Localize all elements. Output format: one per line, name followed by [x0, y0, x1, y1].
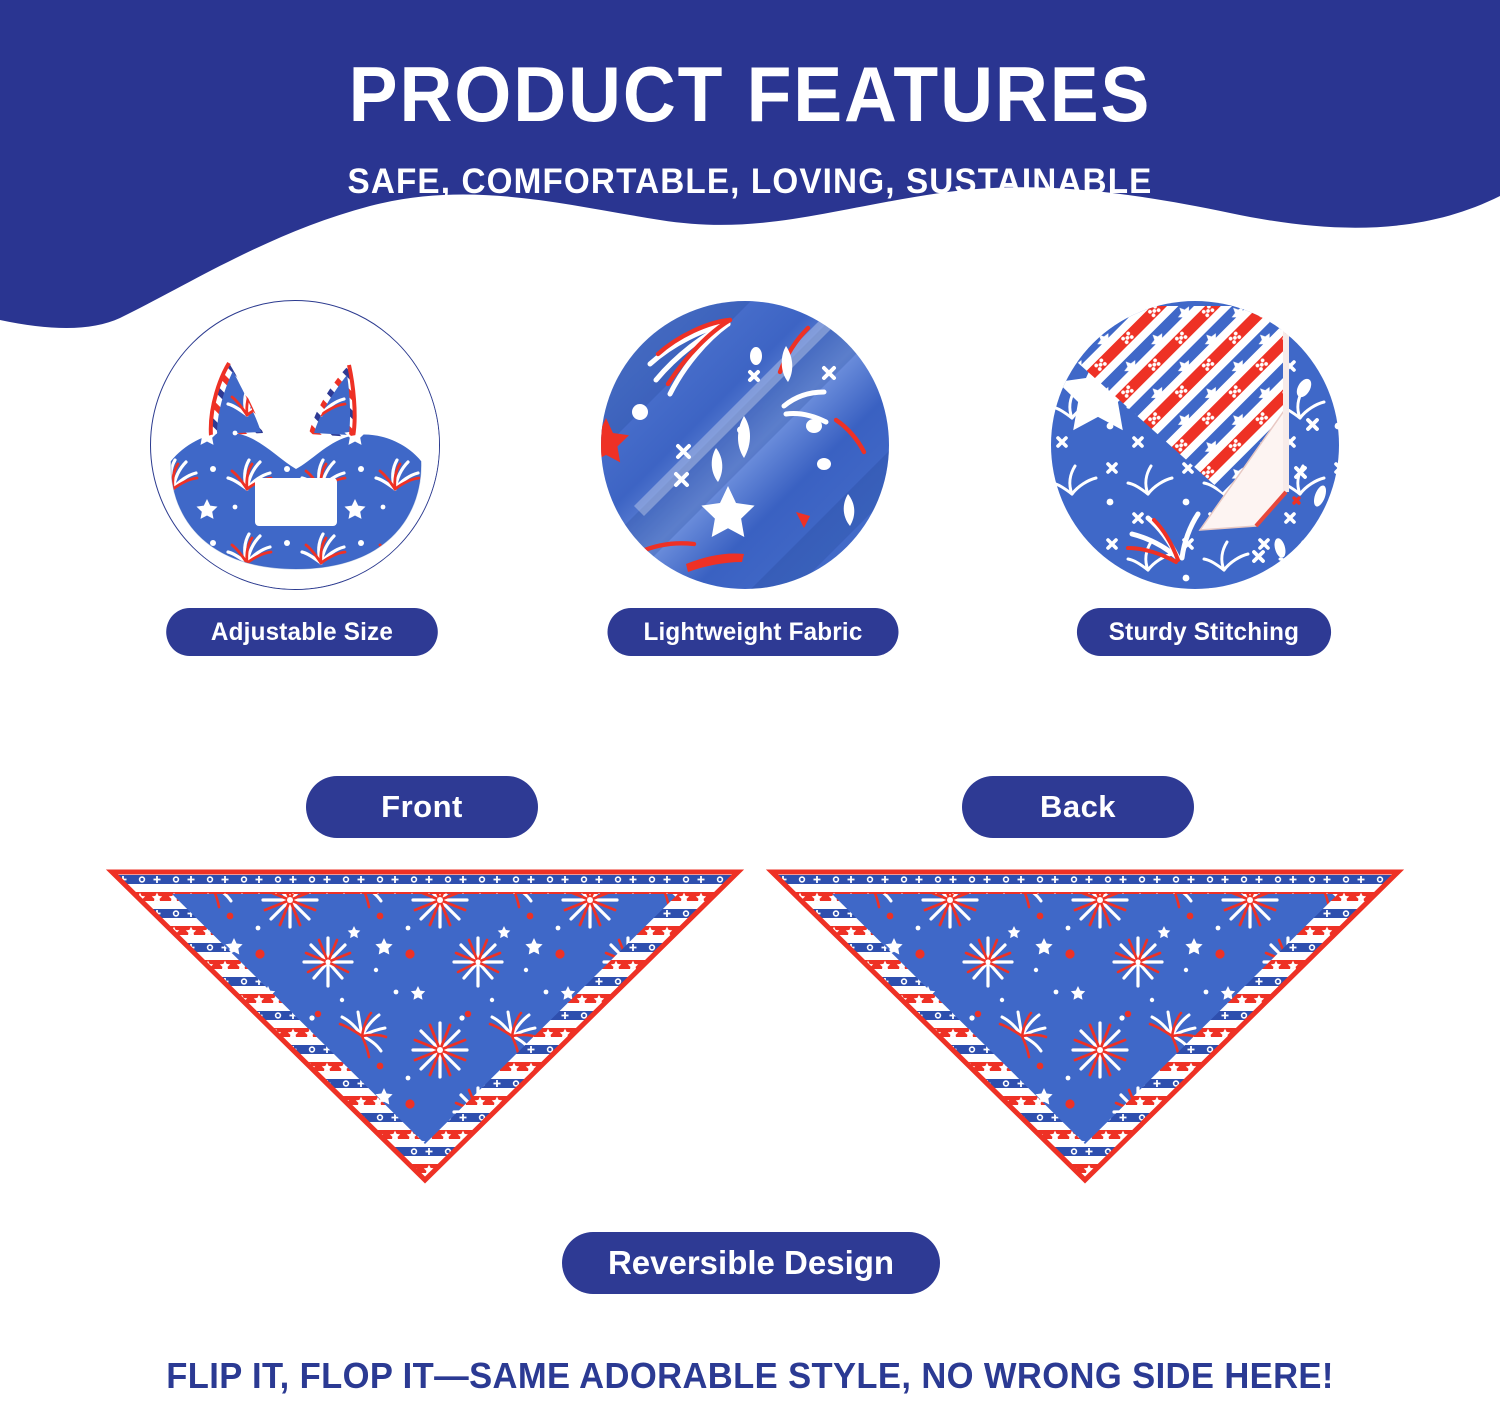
feature-card-sturdy-stitching: Sturdy Stitching [1050, 300, 1350, 670]
page-subtitle: SAFE, COMFORTABLE, LOVING, SUSTAINABLE [38, 162, 1463, 202]
side-label-front: Front [306, 776, 538, 838]
feature-card-adjustable-size: Adjustable Size [150, 300, 450, 670]
bandana-triangle-back-illustration [760, 858, 1410, 1198]
feature-image-adjustable-size [150, 300, 440, 590]
feature-label-adjustable-size: Adjustable Size [166, 608, 438, 656]
header-banner: PRODUCT FEATURES SAFE, COMFORTABLE, LOVI… [0, 0, 1500, 330]
feature-label-sturdy-stitching: Sturdy Stitching [1077, 608, 1331, 656]
bandana-tied-knot-illustration [151, 301, 440, 590]
page-title: PRODUCT FEATURES [45, 55, 1455, 133]
feature-image-lightweight-fabric [600, 300, 890, 590]
feature-card-lightweight-fabric: Lightweight Fabric [600, 300, 900, 670]
bandana-triangle-front-illustration [100, 858, 750, 1198]
footer-caption: FLIP IT, FLOP IT—SAME ADORABLE STYLE, NO… [30, 1355, 1470, 1397]
side-label-back: Back [962, 776, 1194, 838]
feature-label-lightweight-fabric: Lightweight Fabric [608, 608, 899, 656]
feature-image-sturdy-stitching [1050, 300, 1340, 590]
stitched-corner-illustration [1050, 300, 1340, 590]
bandana-front-image [100, 858, 750, 1198]
folded-fabric-illustration [600, 300, 890, 590]
reversible-design-label: Reversible Design [562, 1232, 940, 1294]
bandana-back-image [760, 858, 1410, 1198]
